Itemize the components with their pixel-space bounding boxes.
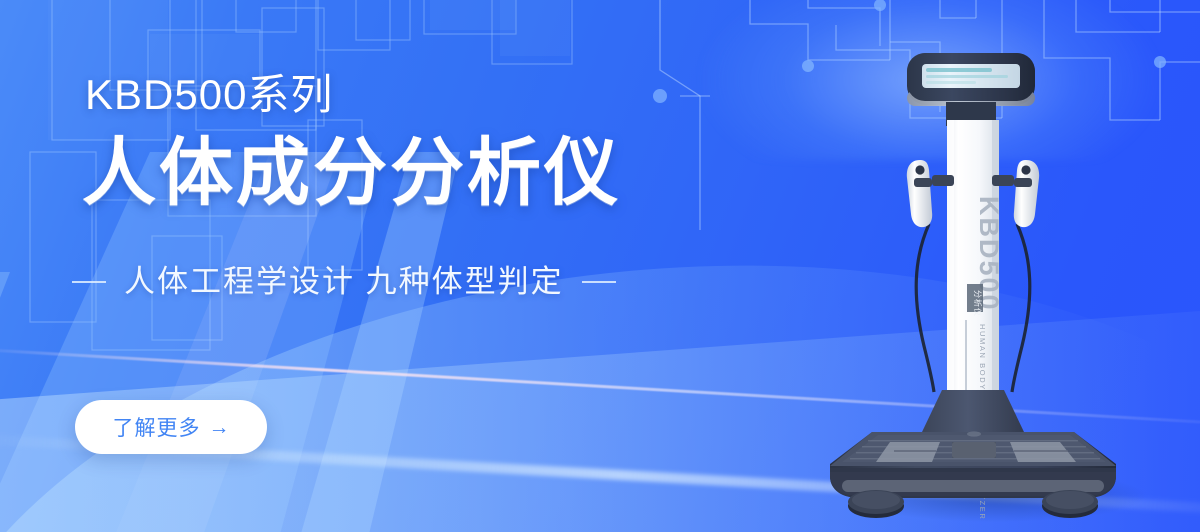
product-image-body-composition-analyzer: KBD500 分析仪 HUMAN BODY COMPOSITION ANALYZ…: [828, 28, 1158, 532]
device-base-platform: [830, 431, 1116, 498]
dash-right-icon: [582, 281, 616, 283]
subtitle-text: 人体工程学设计 九种体型判定: [124, 266, 564, 297]
subtitle-row: 人体工程学设计 九种体型判定: [72, 266, 672, 297]
eyebrow-text: KBD500系列: [85, 74, 333, 116]
device-display-head: [907, 53, 1035, 126]
device-neck: [922, 390, 1024, 432]
dash-left-icon: [72, 281, 106, 283]
hero-copy: KBD500系列 人体成分分析仪 人体工程学设计 九种体型判定 了解更多 →: [0, 0, 700, 532]
page-title: 人体成分分析仪: [82, 136, 621, 210]
learn-more-button[interactable]: 了解更多 →: [75, 400, 267, 454]
arrow-right-icon: →: [209, 417, 230, 438]
learn-more-label: 了解更多: [113, 412, 201, 442]
product-hero-banner: KBD500系列 人体成分分析仪 人体工程学设计 九种体型判定 了解更多 →: [0, 0, 1200, 532]
device-badge-text: 分析仪: [973, 290, 983, 317]
